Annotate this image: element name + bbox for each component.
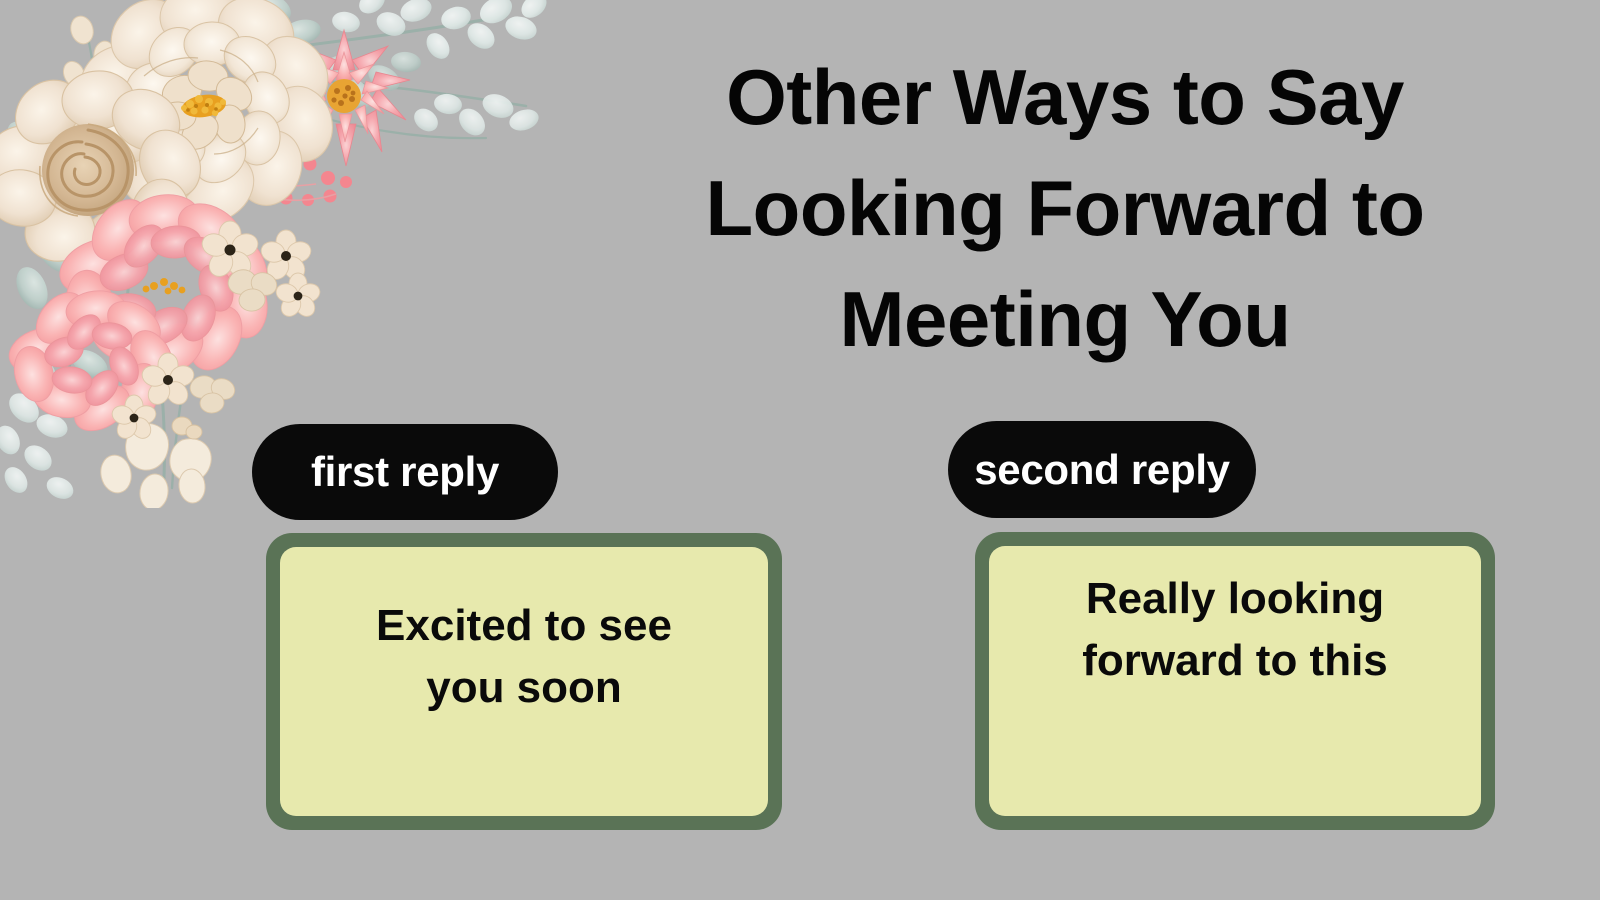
page-title: Other Ways to Say Looking Forward to Mee… bbox=[660, 42, 1470, 374]
label-pill-first-reply[interactable]: first reply bbox=[252, 424, 558, 520]
reply-card-first[interactable]: Excited to see you soon bbox=[266, 533, 782, 830]
reply-card-second-body: Really looking forward to this bbox=[989, 546, 1481, 816]
label-pill-second-reply[interactable]: second reply bbox=[948, 421, 1256, 518]
pill-label-text: second reply bbox=[974, 446, 1230, 494]
slide-canvas: Other Ways to Say Looking Forward to Mee… bbox=[0, 0, 1600, 900]
reply-card-second[interactable]: Really looking forward to this bbox=[975, 532, 1495, 830]
pill-label-text: first reply bbox=[311, 448, 499, 496]
reply-card-first-body: Excited to see you soon bbox=[280, 547, 768, 816]
